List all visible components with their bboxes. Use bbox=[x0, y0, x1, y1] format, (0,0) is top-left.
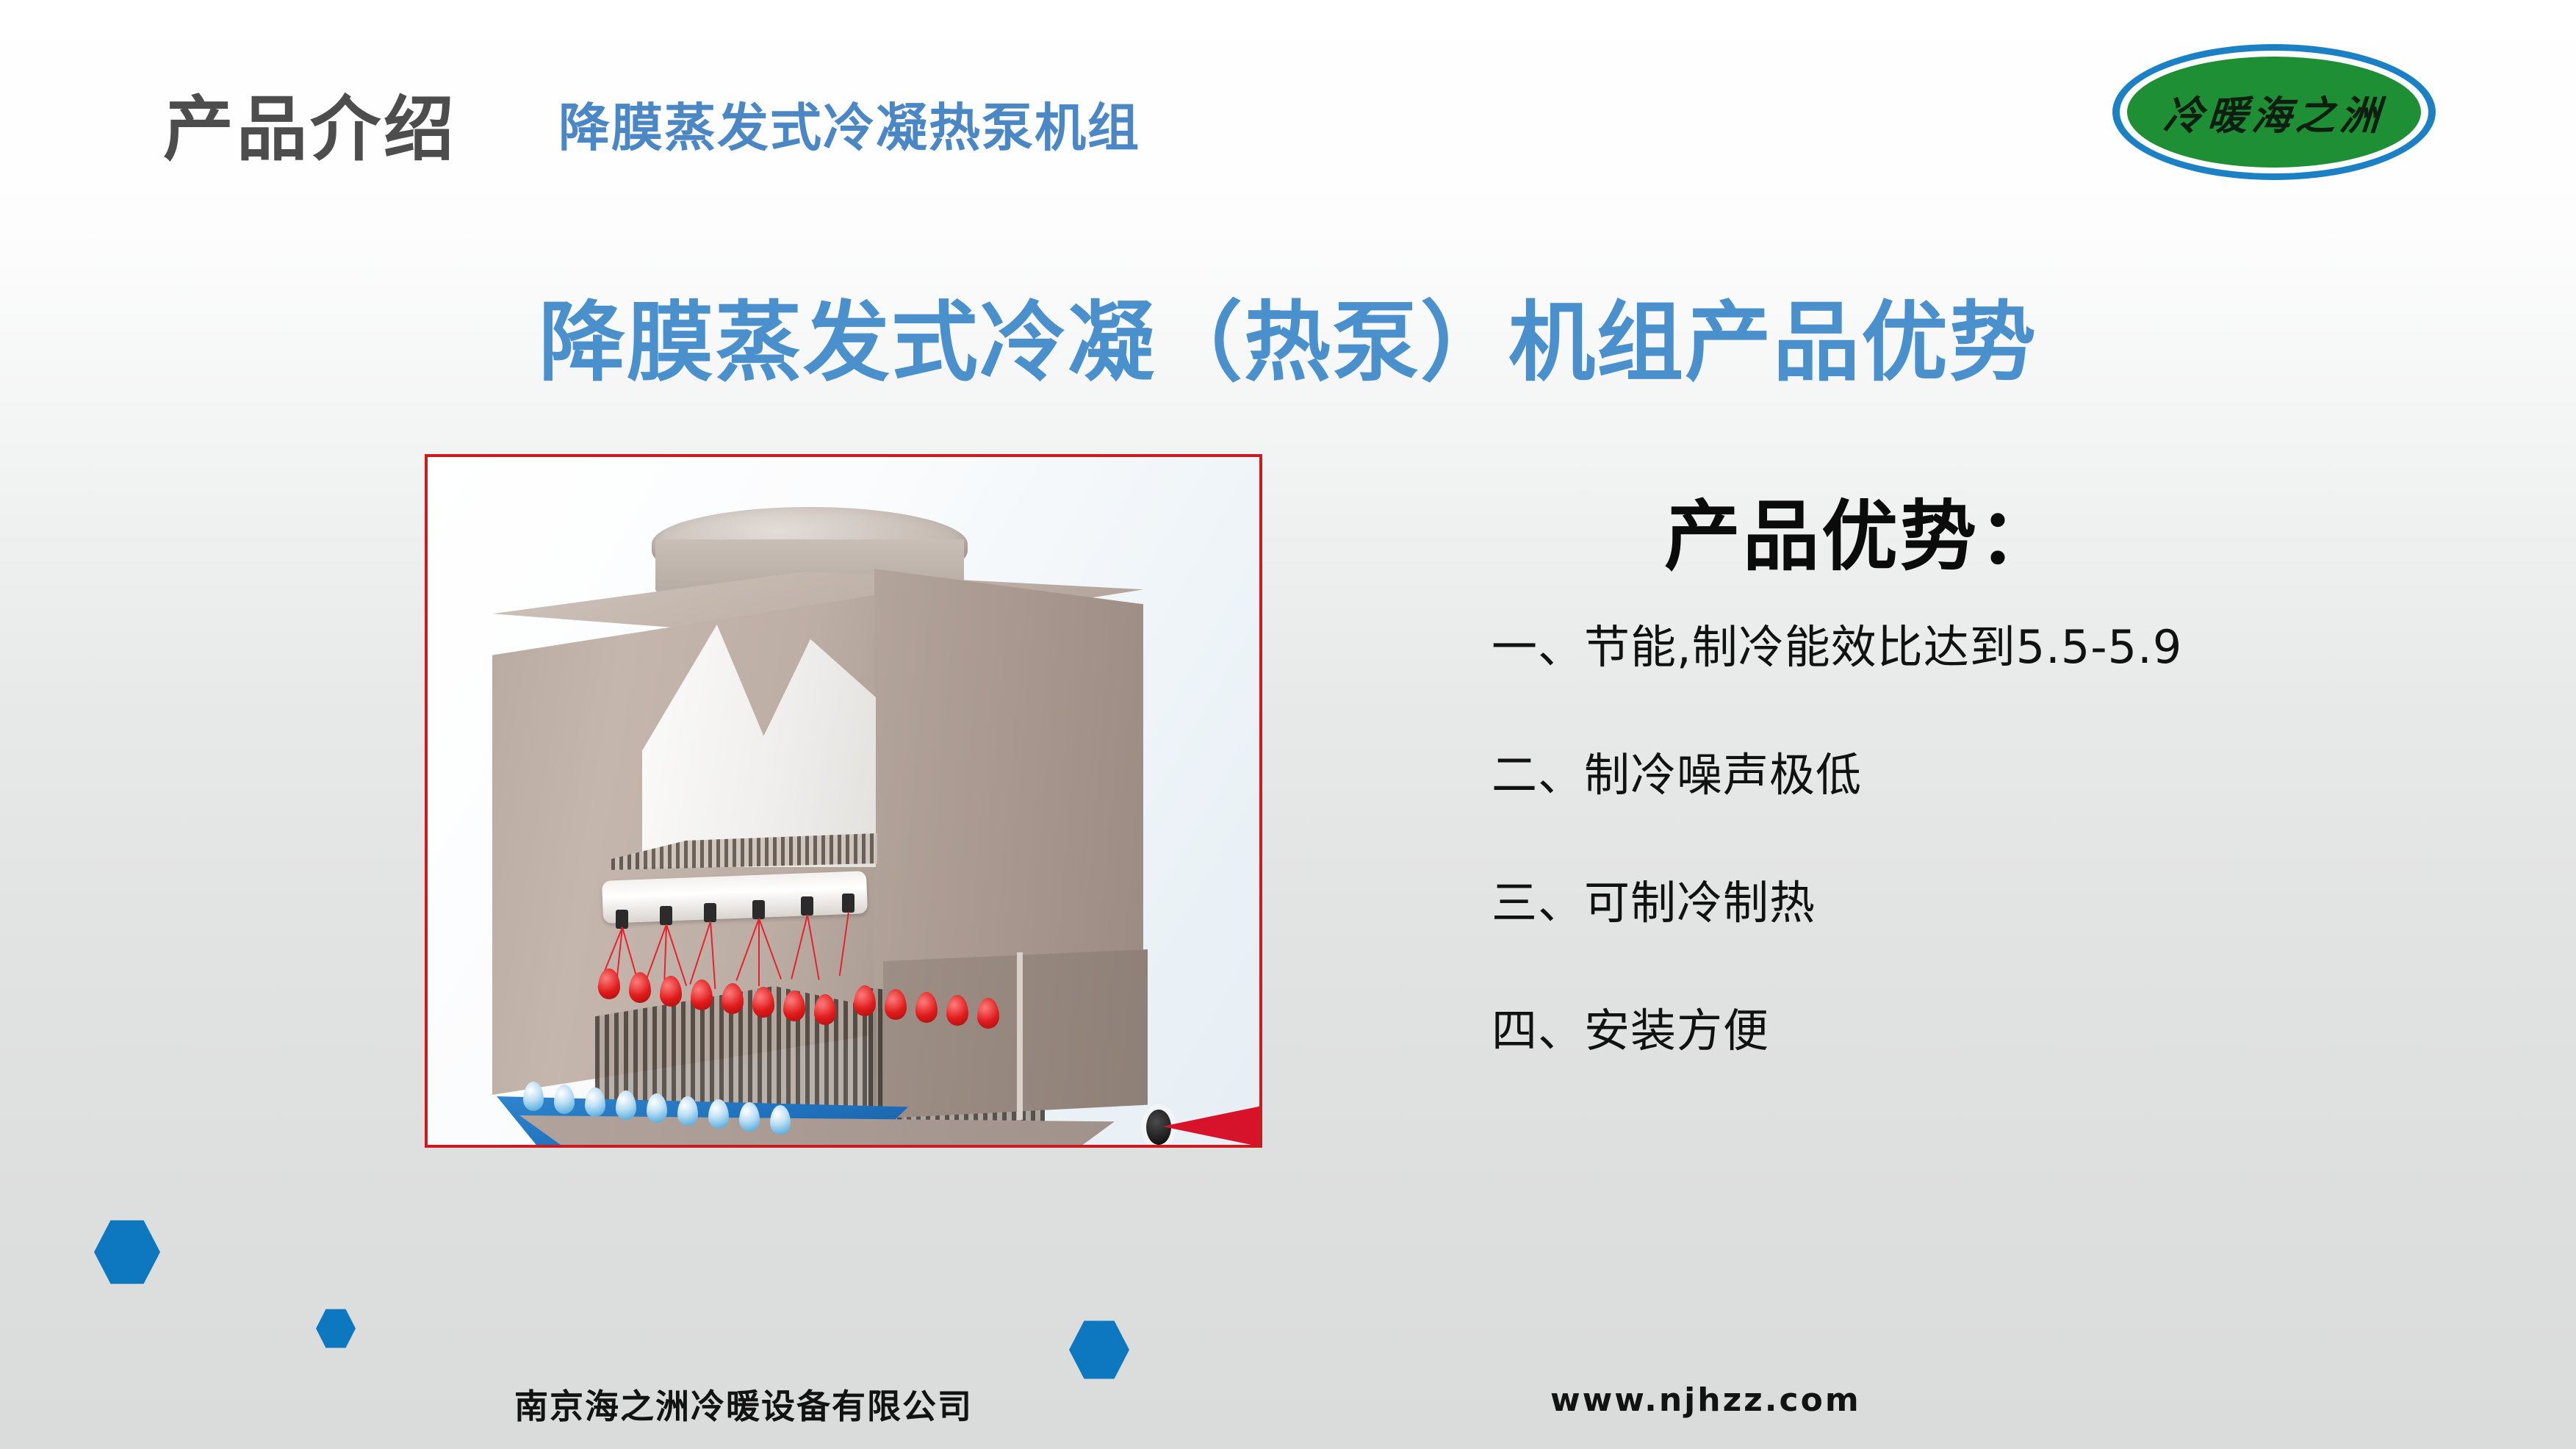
spray-nozzle-icon bbox=[752, 900, 765, 919]
product-illustration bbox=[428, 457, 1259, 1145]
spray-nozzle-icon bbox=[660, 906, 672, 925]
hexagon-decor-icon bbox=[1069, 1319, 1129, 1381]
spray-jet bbox=[758, 918, 760, 986]
advantages-heading: 产品优势： bbox=[1664, 474, 2057, 585]
refrigerant-inlet-arrow bbox=[1162, 1104, 1262, 1148]
advantage-item: 一、节能,制冷能效比达到5.5-5.9 bbox=[1492, 610, 2520, 676]
slide-canvas: 产品介绍 降膜蒸发式冷凝热泵机组 冷暖海之洲 降膜蒸发式冷凝（热泵）机组产品优势 bbox=[0, 0, 2576, 1449]
spray-nozzle-icon bbox=[801, 896, 813, 916]
advantages-list: 一、节能,制冷能效比达到5.5-5.9 二、制冷噪声极低 三、可制冷制热 四、安… bbox=[1492, 610, 2520, 1121]
footer-website[interactable]: www.njhzz.com bbox=[1550, 1381, 1861, 1419]
advantage-item: 四、安装方便 bbox=[1492, 993, 2520, 1060]
page-section-label: 产品介绍 bbox=[163, 72, 457, 174]
evaporative-condenser-unit bbox=[472, 501, 1162, 1126]
advantage-item: 二、制冷噪声极低 bbox=[1492, 738, 2520, 804]
arrow-head bbox=[1162, 1104, 1262, 1148]
spray-nozzle-icon bbox=[616, 910, 628, 929]
logo-text: 冷暖海之洲 bbox=[2162, 83, 2386, 141]
hexagon-decor-icon bbox=[94, 1218, 160, 1286]
product-image-frame bbox=[425, 454, 1262, 1148]
spray-nozzle-icon bbox=[842, 894, 855, 913]
footer-company-name: 南京海之洲冷暖设备有限公司 bbox=[514, 1380, 973, 1428]
condenser-coil-panel bbox=[883, 949, 1148, 1118]
company-logo: 冷暖海之洲 bbox=[2112, 44, 2436, 180]
spray-nozzle-icon bbox=[704, 903, 716, 922]
advantage-item: 三、可制冷制热 bbox=[1492, 866, 2520, 932]
page-section-subtitle: 降膜蒸发式冷凝热泵机组 bbox=[558, 87, 1140, 161]
hexagon-decor-icon bbox=[316, 1308, 356, 1349]
page-title: 降膜蒸发式冷凝（热泵）机组产品优势 bbox=[0, 272, 2576, 398]
cold-water-droplet-icon bbox=[554, 1085, 575, 1114]
logo-green-ellipse: 冷暖海之洲 bbox=[2127, 57, 2421, 168]
coil-divider bbox=[1017, 952, 1023, 1120]
